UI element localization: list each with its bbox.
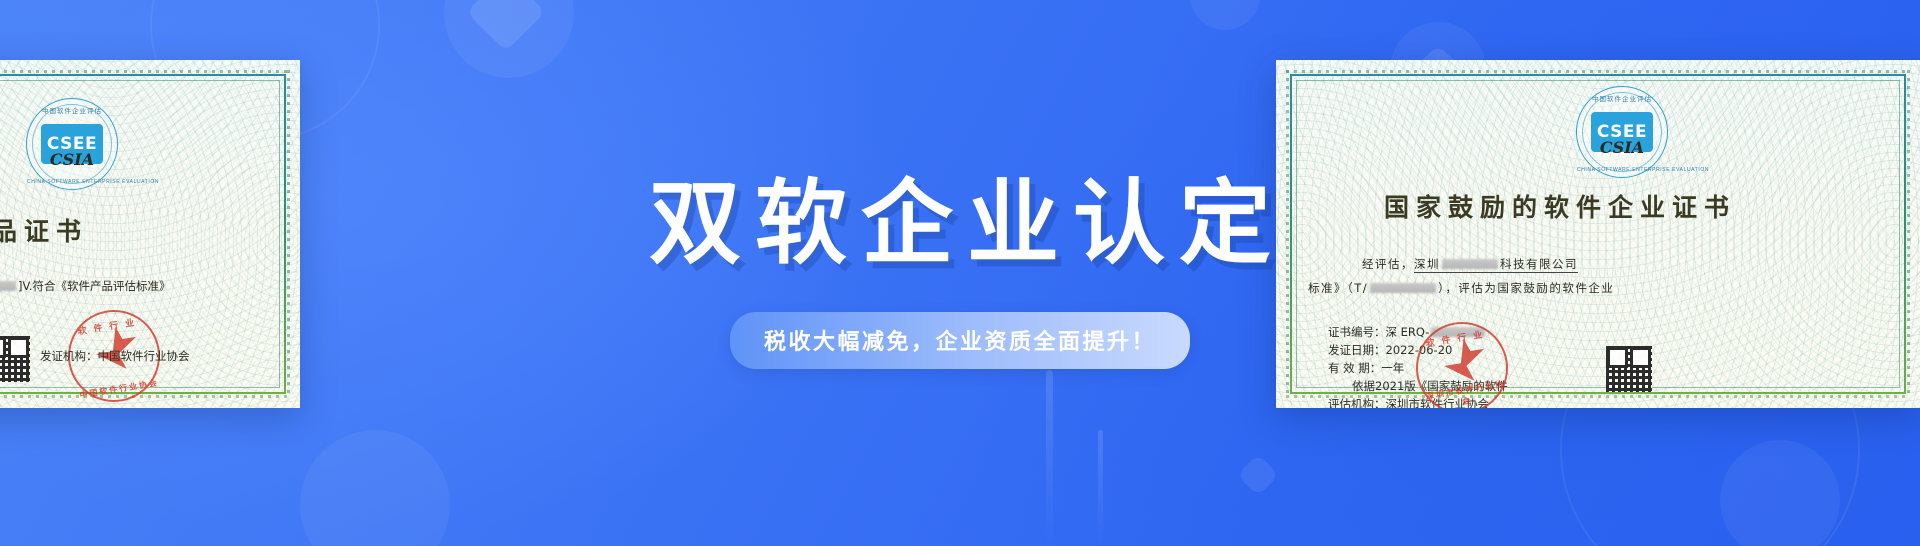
promo-badge: 税收大幅减免，企业资质全面提升！ [730, 312, 1190, 369]
page-title: 双软企业认定 [635, 178, 1285, 270]
banner-center-content: 双软企业认定 税收大幅减免，企业资质全面提升！ [0, 0, 1920, 546]
promo-banner: 中国软件企业评估 CSEE CSIA CHINA SOFTWARE ENTERP… [0, 0, 1920, 546]
